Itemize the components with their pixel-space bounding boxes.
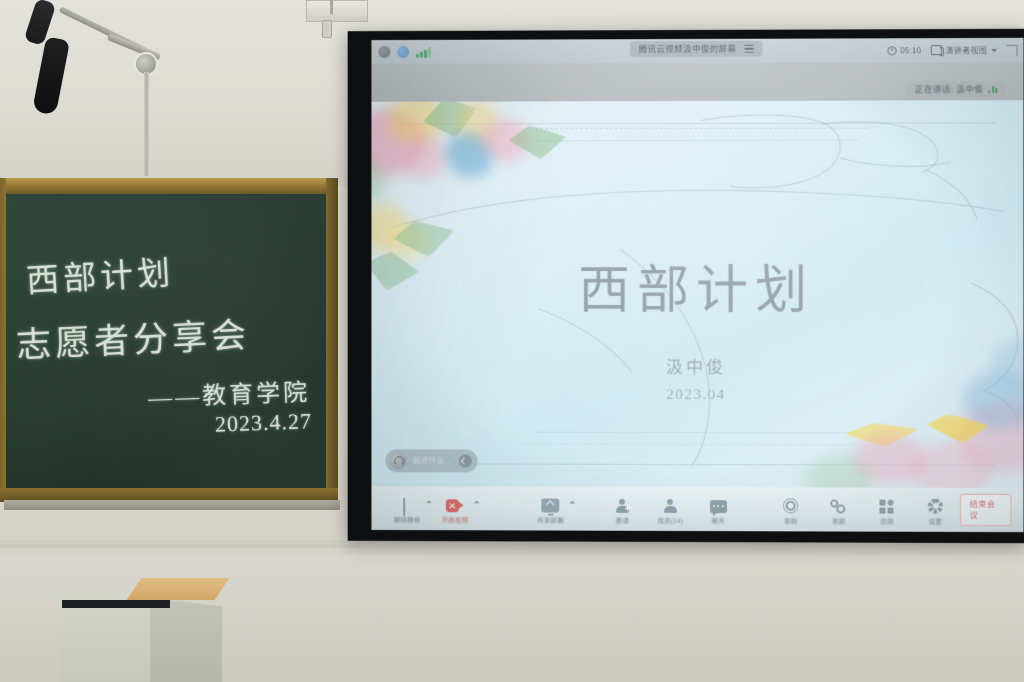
presentation-slide: 西部计划 汲中俊 2023.04 [371,100,1023,488]
slide-date: 2023.04 [371,386,1023,404]
share-screen-icon [541,493,559,512]
slide-author: 汲中俊 [371,352,1023,378]
chalk-line-2: 志愿者分享会 [15,307,251,369]
meeting-timer: 05:10 [888,46,921,55]
meeting-toolbar: 解除静音 开启视频 [371,486,1023,532]
chalk-line-4: 2023.4.27 [215,408,313,437]
roller-hook-icon [322,20,332,38]
projection-screen-surface: 腾讯云视频汲中俊的屏幕 05:10 演讲者视图 [371,38,1023,532]
speaking-indicator: 正在讲话: 汲中俊 [907,81,1006,98]
projection-screen-frame: 腾讯云视频汲中俊的屏幕 05:10 演讲者视图 [348,29,1024,543]
toolbar-item-record[interactable]: 录制 [766,494,814,525]
view-mode-switcher[interactable]: 演讲者视图 [930,44,997,55]
chalk-line-1: 西部计划 [25,246,175,302]
chat-bubble-icon [710,494,727,513]
toolbar-label: 聊天 [712,515,725,525]
chevron-up-icon[interactable] [474,500,480,503]
microphone-icon [403,493,412,512]
slide-title-block: 西部计划 汲中俊 2023.04 [371,247,1023,404]
classroom-scene: 西部计划 志愿者分享会 ——教育学院 2023.4.27 腾讯云视频汲中俊 [0,0,1024,682]
wall-trim [0,540,360,548]
clock-icon [888,46,897,55]
toolbar-item-apps[interactable]: 应用 [863,494,911,525]
toolbar-label: 录制 [784,515,797,525]
menu-icon[interactable] [744,45,753,53]
chevron-left-icon[interactable] [459,454,472,467]
view-mode-label: 演讲者视图 [945,44,987,55]
chevron-down-icon[interactable] [991,48,997,51]
person-add-icon [615,493,630,512]
beauty-icon [831,494,847,513]
toolbar-label: 开启视频 [442,514,469,524]
toolbar-item-stop-video[interactable]: 开启视频 [431,493,479,524]
shield-icon[interactable] [378,46,390,58]
podium-wood-top [127,578,230,600]
shared-content-stage: 西部计划 汲中俊 2023.04 说点什么... [371,100,1023,488]
end-meeting-button[interactable]: 结束会议 [960,494,1012,526]
chalk-tray [4,500,340,510]
chat-input-placeholder[interactable]: 说点什么... [412,455,452,466]
layout-icon [930,45,941,55]
toolbar-item-mute-audio[interactable]: 解除静音 [383,493,431,524]
gear-icon [928,494,943,513]
toolbar-item-share-screen[interactable]: 共享屏幕 [527,493,575,524]
elapsed-time: 05:10 [900,46,921,55]
toolbar-label: 美颜 [832,515,845,525]
toolbar-item-settings[interactable]: 设置 [911,494,959,525]
toolbar-item-chat[interactable]: 聊天 [694,494,742,525]
toolbar-label: 应用 [880,515,893,525]
speaking-label: 正在讲话: 汲中俊 [915,83,983,95]
apps-grid-icon [879,494,894,513]
video-strip-band: 正在讲话: 汲中俊 [371,62,1023,102]
slide-title: 西部计划 [371,247,1023,322]
toolbar-label: 设置 [929,515,942,525]
meeting-title-chip[interactable]: 腾讯云视频汲中俊的屏幕 [630,41,763,57]
meeting-title: 腾讯云视频汲中俊的屏幕 [639,43,737,55]
camera-off-icon [445,493,464,512]
audio-wave-icon [988,85,997,93]
chat-input-pill[interactable]: 说点什么... [385,449,477,472]
record-icon [783,494,798,513]
toolbar-label: 成员(14) [657,514,683,524]
chevron-up-icon[interactable] [569,500,575,503]
toolbar-label: 邀请 [616,514,629,524]
toolbar-label: 解除静音 [394,514,421,524]
network-icon[interactable] [397,46,409,58]
toolbar-item-participants[interactable]: 成员(14) [646,493,694,524]
participants-icon [663,493,678,512]
avatar [389,452,406,469]
chalk-line-3: ——教育学院 [147,372,310,413]
signal-bars-icon[interactable] [416,46,430,57]
meeting-app-window: 腾讯云视频汲中俊的屏幕 05:10 演讲者视图 [371,38,1023,532]
toolbar-item-invite[interactable]: 邀请 [598,493,646,524]
toolbar-item-beauty[interactable]: 美颜 [815,494,863,525]
toolbar-label: 共享屏幕 [537,514,564,524]
expand-icon[interactable] [1006,44,1017,55]
app-titlebar: 腾讯云视频汲中俊的屏幕 05:10 演讲者视图 [371,38,1023,64]
